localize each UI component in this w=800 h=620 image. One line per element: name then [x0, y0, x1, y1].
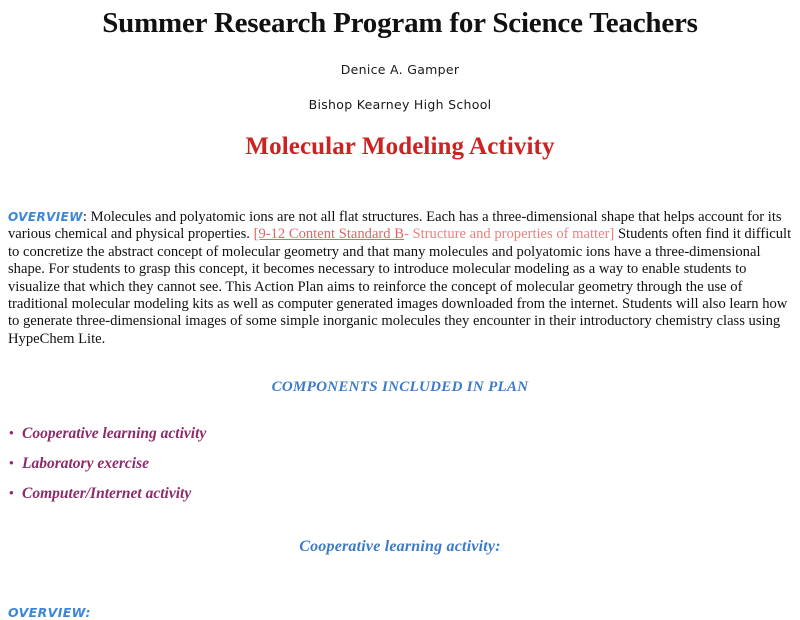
list-item: Laboratory exercise	[8, 456, 792, 472]
masthead: Summer Research Program for Science Teac…	[8, 6, 792, 161]
list-item: Cooperative learning activity	[8, 426, 792, 442]
document-page: Summer Research Program for Science Teac…	[0, 6, 800, 606]
bottom-overview-label: OVERVIEW:	[8, 605, 792, 620]
author-name: Denice A. Gamper	[8, 62, 792, 77]
list-item: Computer/Internet activity	[8, 486, 792, 502]
content-standard-link[interactable]: [9-12 Content Standard B	[254, 226, 404, 242]
overview-section: OVERVIEW: Molecules and polyatomic ions …	[8, 209, 792, 348]
overview-label: OVERVIEW	[8, 210, 83, 224]
cooperative-learning-heading: Cooperative learning activity:	[8, 538, 792, 556]
page-title: Summer Research Program for Science Teac…	[8, 6, 792, 40]
content-standard-tail: - Structure and properties of matter]	[404, 226, 614, 242]
components-list: Cooperative learning activity Laboratory…	[8, 426, 792, 502]
components-heading: COMPONENTS INCLUDED IN PLAN	[8, 379, 792, 396]
school-name: Bishop Kearney High School	[8, 97, 792, 112]
overview-paragraph: OVERVIEW: Molecules and polyatomic ions …	[8, 209, 792, 348]
document-title: Molecular Modeling Activity	[8, 133, 792, 161]
overview-text-after: Students often find it difficult to conc…	[8, 226, 791, 346]
overview-label-colon: :	[83, 209, 87, 225]
